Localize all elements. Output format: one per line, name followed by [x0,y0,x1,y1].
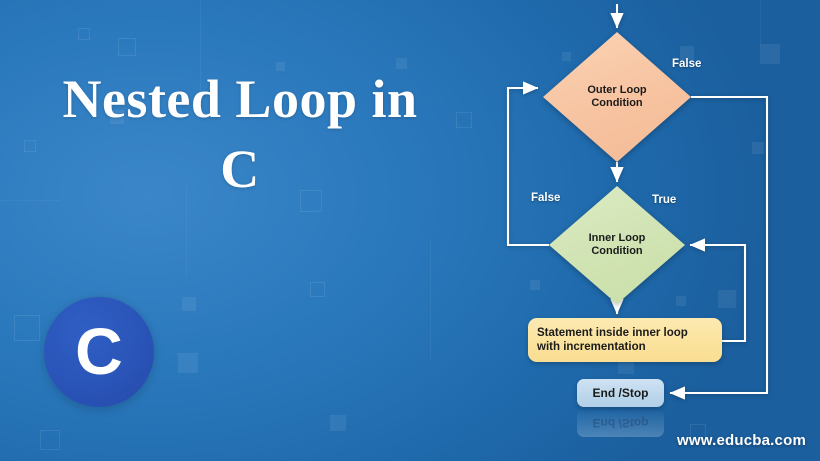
node-label: Inner Loop Condition [585,232,650,258]
node-statement-inside-inner-loop[interactable]: Statement inside inner loop with increme… [528,318,722,362]
node-label-line-1: Statement inside inner loop [537,326,688,340]
node-label-line-2: Condition [589,245,646,258]
edge-label-inner-false: False [531,192,560,204]
node-label: End /Stop [593,386,649,400]
edge-label-outer-false: False [672,58,701,70]
watermark: www.educba.com [677,432,806,449]
node-label-line-1: Outer Loop [587,84,646,97]
node-label-line-2: Condition [587,97,646,110]
node-label-line-1: Inner Loop [589,232,646,245]
node-label: Statement inside inner loop with increme… [537,326,688,354]
slide-canvas: Nested Loop in C C [0,0,820,461]
flowchart: Outer Loop Condition Inner Loop Conditio… [0,0,820,461]
node-end-stop[interactable]: End /Stop [577,379,664,407]
node-label-line-2: with incrementation [537,340,688,354]
edge-label-inner-true: True [652,194,676,206]
node-label: Outer Loop Condition [583,84,650,110]
node-outer-loop-condition[interactable]: Outer Loop Condition [543,32,691,162]
